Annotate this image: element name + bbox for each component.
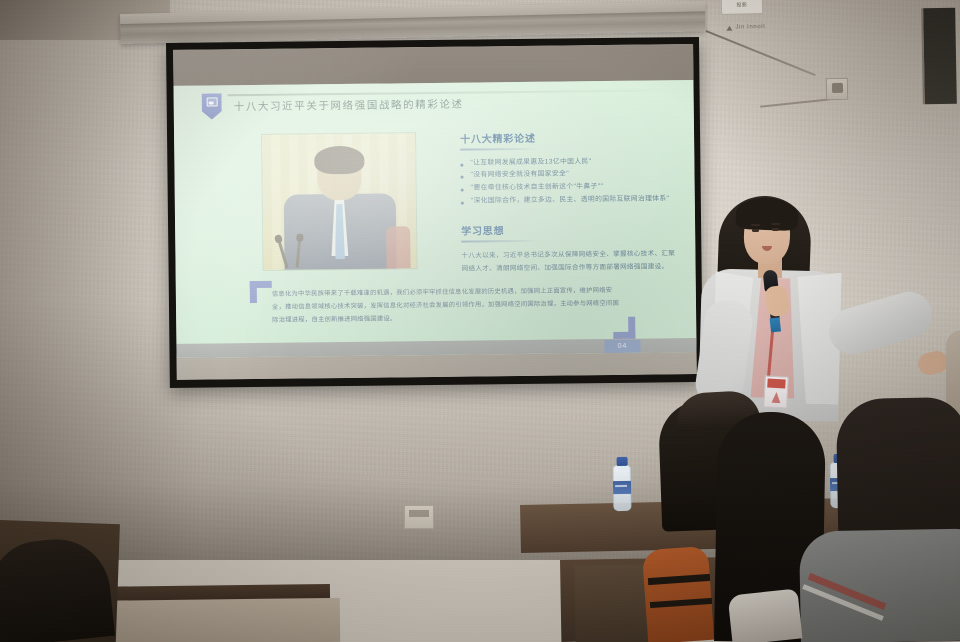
slide-title: 十八大习近平关于网络强国战略的精彩论述 xyxy=(234,97,464,115)
screen-surface: 十八大习近平关于网络强国战略的精彩论述 十八大精彩论述 xyxy=(173,44,697,380)
slide-section-bullets: 十八大精彩论述 "让互联网发展成果惠及13亿中国人民" "没有网络安全就没有国家… xyxy=(460,128,669,208)
photo-projection-fade xyxy=(262,133,417,270)
wall-control-panel[interactable] xyxy=(404,505,434,529)
bullet-dot-icon xyxy=(461,176,464,179)
attendee-orange-sleeve xyxy=(642,546,714,642)
bullet-dot-icon xyxy=(460,163,463,166)
slide-quote-box: 信息化为中华民族带来了千载难逢的机遇，我们必须牢牢抓住信息化发展的历史机遇，加强… xyxy=(250,277,636,343)
slide-header: 十八大习近平关于网络强国战略的精彩论述 xyxy=(192,86,684,120)
lecture-room-scene: 投影 Jin Innolt 十八大习近平关于网络强国战略的精彩论述 xyxy=(0,0,960,642)
housing-brand-label: Jin Innolt xyxy=(735,24,765,31)
section-underline xyxy=(461,240,539,242)
presenter-badge xyxy=(763,375,789,408)
header-rule xyxy=(228,89,680,96)
presenter-eye-left xyxy=(752,229,759,232)
bullet-text: "深化国际合作，建立多边、民主、透明的国际互联网治理体系" xyxy=(471,194,670,209)
badge-glyph-icon xyxy=(206,97,217,106)
brand-triangle-icon xyxy=(726,25,732,30)
presentation-slide: 十八大习近平关于网络强国战略的精彩论述 十八大精彩论述 xyxy=(173,80,696,358)
presenter-eyebrow-left xyxy=(751,224,760,226)
slide-page-number: 04 xyxy=(604,340,640,353)
housing-brand: Jin Innolt xyxy=(726,24,765,31)
attendee-white-sleeve xyxy=(728,588,803,642)
section-paragraph: 十八大以来，习近平总书记多次从保障网络安全、掌握核心技术、汇聚网络人才、清朗网络… xyxy=(461,247,676,276)
section-heading: 十八大精彩论述 xyxy=(460,128,669,145)
bullet-dot-icon xyxy=(461,189,464,192)
housing-label: 投影 xyxy=(721,0,763,15)
section-underline xyxy=(460,148,538,150)
wall-outlet xyxy=(826,78,848,100)
presenter-hand-left xyxy=(764,285,790,318)
bottle-label xyxy=(613,481,631,494)
screen-unlit-top xyxy=(173,44,693,86)
section-heading: 学习思想 xyxy=(461,220,676,237)
slide-section-thoughts: 学习思想 十八大以来，习近平总书记多次从保障网络安全、掌握核心技术、汇聚网络人才… xyxy=(461,220,677,275)
presenter-eyebrow-right xyxy=(771,223,780,225)
slide-photo xyxy=(262,133,417,270)
wall-speaker xyxy=(921,8,957,105)
bottle-cap xyxy=(617,457,628,466)
bullet-text: "没有网络安全就没有国家安全" xyxy=(470,169,569,183)
desk-block xyxy=(574,564,650,642)
certificate-icon xyxy=(202,93,222,119)
quote-text: 信息化为中华民族带来了千载难逢的机遇，我们必须牢牢抓住信息化发展的历史机遇，加强… xyxy=(272,285,622,328)
housing-rail xyxy=(120,11,705,29)
presenter-eye-right xyxy=(772,228,779,231)
bullet-dot-icon xyxy=(461,202,464,205)
water-bottle-left xyxy=(611,455,634,511)
microphone-band xyxy=(770,317,781,332)
bullet-list: "让互联网发展成果惠及13亿中国人民" "没有网络安全就没有国家安全" "要在牵… xyxy=(460,155,669,209)
quote-corner-top-left-icon xyxy=(250,281,272,303)
projection-screen: 十八大习近平关于网络强国战略的精彩论述 十八大精彩论述 xyxy=(166,37,703,388)
list-item: "深化国际合作，建立多边、民主、透明的国际互联网治理体系" xyxy=(461,194,670,209)
